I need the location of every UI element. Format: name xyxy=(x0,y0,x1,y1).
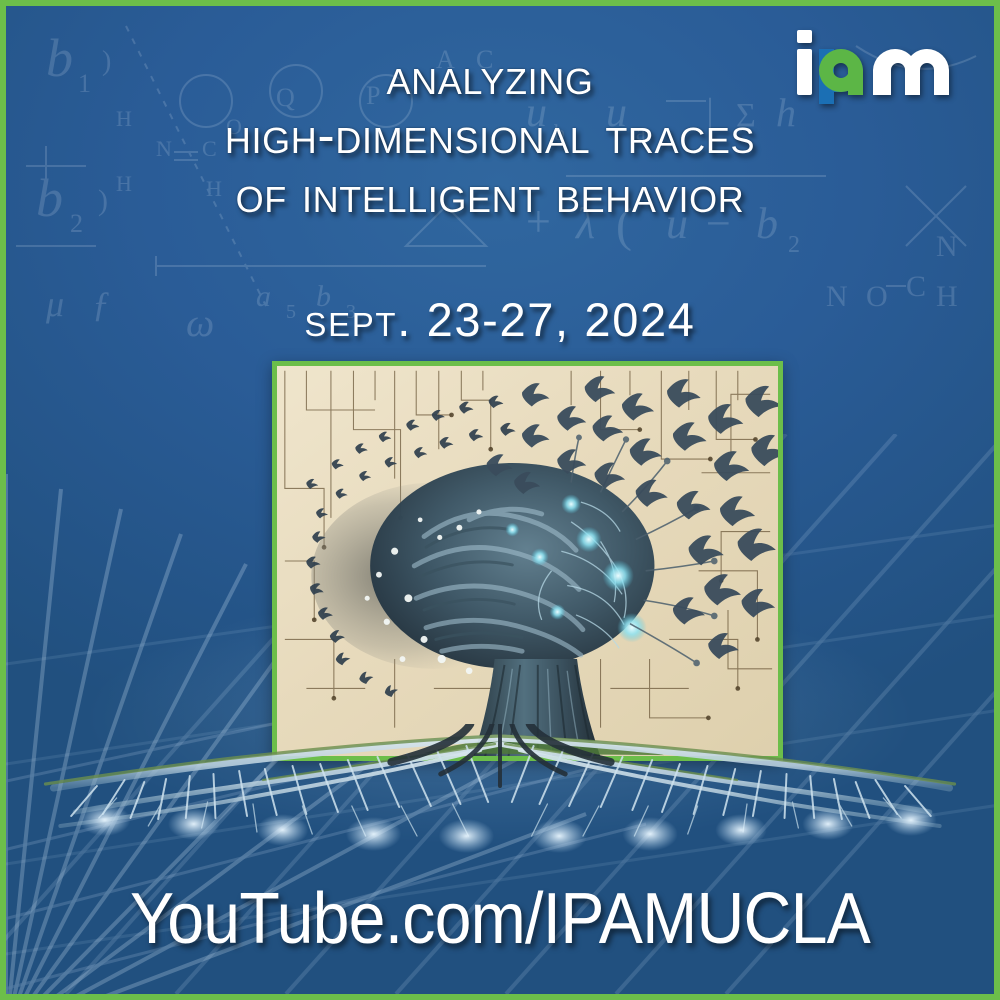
page-title: Analyzing High-dimensional Traces of Int… xyxy=(6,48,994,224)
title-line-3: of Intelligent Behavior xyxy=(76,166,904,225)
artwork-image xyxy=(272,361,783,761)
poster: b 1 ) b 2 ) H H N C O H Q P a 5 b 3 xyxy=(0,0,1000,1000)
youtube-url[interactable]: YouTube.com/IPAMUCLA xyxy=(46,878,955,960)
title-line-2: High-dimensional Traces xyxy=(76,107,904,166)
event-date: Sept. 23-27, 2024 xyxy=(6,292,994,347)
title-line-1: Analyzing xyxy=(76,48,904,107)
